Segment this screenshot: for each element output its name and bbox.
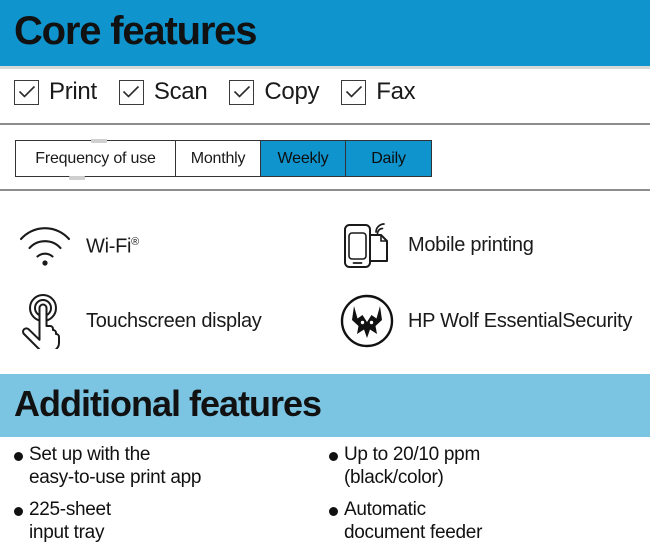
- feature-wifi: Wi-Fi®: [14, 214, 334, 276]
- additional-features-header-band: Additional features: [0, 374, 650, 437]
- bullet-line-2: input tray: [29, 521, 111, 544]
- checkbox-print[interactable]: [14, 80, 39, 105]
- hp-wolf-line-2: Security: [562, 310, 632, 332]
- frequency-option-monthly[interactable]: Monthly: [176, 141, 261, 176]
- bullet-line-1: Set up with the: [29, 443, 201, 466]
- bullet-line-2: easy-to-use print app: [29, 466, 201, 489]
- feature-label-mobile-printing: Mobile printing: [408, 234, 534, 257]
- bullet-text: 225-sheetinput tray: [29, 498, 111, 544]
- checkbox-label-scan: Scan: [154, 78, 208, 106]
- list-item: Up to 20/10 ppm(black/color): [329, 443, 644, 489]
- selector-nub-top: [91, 139, 107, 143]
- bullet-line-2: (black/color): [344, 466, 480, 489]
- core-features-header-band: Core features: [0, 0, 650, 66]
- bullet-dot-icon: [329, 507, 338, 516]
- feature-label-wifi: Wi-Fi®: [86, 231, 139, 259]
- checkbox-item-copy[interactable]: Copy: [229, 78, 319, 106]
- checkbox-label-fax: Fax: [376, 78, 415, 106]
- hp-wolf-line-1: HP Wolf Essential: [408, 310, 562, 332]
- checkbox-label-copy: Copy: [264, 78, 319, 106]
- feature-mobile-printing: Mobile printing: [336, 214, 650, 276]
- list-item: 225-sheetinput tray: [14, 498, 329, 544]
- list-item: Set up with theeasy-to-use print app: [14, 443, 329, 489]
- additional-features-bullets: Set up with theeasy-to-use print app 225…: [0, 443, 650, 550]
- core-features-checkbox-row: Print Scan Copy Fax: [14, 78, 437, 106]
- checkbox-item-fax[interactable]: Fax: [341, 78, 415, 106]
- checkbox-copy[interactable]: [229, 80, 254, 105]
- checkmark-icon: [233, 86, 250, 99]
- feature-hp-wolf-security: HP Wolf EssentialSecurity: [336, 290, 650, 352]
- checkbox-fax[interactable]: [341, 80, 366, 105]
- bullet-line-1: Automatic: [344, 498, 482, 521]
- bullet-column-left: Set up with theeasy-to-use print app 225…: [14, 443, 329, 553]
- wifi-label-text: Wi-Fi: [86, 236, 131, 258]
- checkmark-icon: [18, 86, 35, 99]
- checkbox-item-print[interactable]: Print: [14, 78, 97, 106]
- hp-wolf-shield-icon: [336, 290, 398, 352]
- icon-feature-grid: Wi-Fi® Mobile printing: [0, 200, 650, 372]
- feature-label-hp-wolf-security: HP Wolf EssentialSecurity: [408, 310, 632, 333]
- bullet-column-right: Up to 20/10 ppm(black/color) Automaticdo…: [329, 443, 644, 553]
- header-underline: [0, 66, 650, 69]
- mobile-printing-icon: [336, 214, 398, 276]
- bullet-text: Up to 20/10 ppm(black/color): [344, 443, 480, 489]
- divider-line-top: [0, 123, 650, 125]
- frequency-option-weekly[interactable]: Weekly: [261, 141, 346, 176]
- bullet-line-2: document feeder: [344, 521, 482, 544]
- spec-sheet: Core features Print Scan: [0, 0, 650, 550]
- bullet-text: Automaticdocument feeder: [344, 498, 482, 544]
- wifi-icon: [14, 214, 76, 276]
- checkmark-icon: [123, 86, 140, 99]
- divider-line-bottom: [0, 189, 650, 191]
- checkmark-icon: [345, 86, 362, 99]
- checkbox-scan[interactable]: [119, 80, 144, 105]
- bullet-line-1: Up to 20/10 ppm: [344, 443, 480, 466]
- list-item: Automaticdocument feeder: [329, 498, 644, 544]
- bullet-line-1: 225-sheet: [29, 498, 111, 521]
- checkbox-item-scan[interactable]: Scan: [119, 78, 208, 106]
- bullet-text: Set up with theeasy-to-use print app: [29, 443, 201, 489]
- bullet-dot-icon: [14, 452, 23, 461]
- feature-label-touchscreen: Touchscreen display: [86, 310, 262, 333]
- selector-nub-bottom: [69, 176, 85, 180]
- frequency-label: Frequency of use: [16, 141, 176, 176]
- feature-touchscreen: Touchscreen display: [14, 290, 334, 352]
- registered-mark: ®: [131, 236, 139, 248]
- touchscreen-icon: [14, 290, 76, 352]
- additional-features-title: Additional features: [14, 375, 321, 433]
- bullet-dot-icon: [329, 452, 338, 461]
- checkbox-label-print: Print: [49, 78, 97, 106]
- page-title: Core features: [14, 3, 256, 59]
- frequency-of-use-selector[interactable]: Frequency of use Monthly Weekly Daily: [15, 140, 432, 177]
- bullet-dot-icon: [14, 507, 23, 516]
- frequency-option-daily[interactable]: Daily: [346, 141, 431, 176]
